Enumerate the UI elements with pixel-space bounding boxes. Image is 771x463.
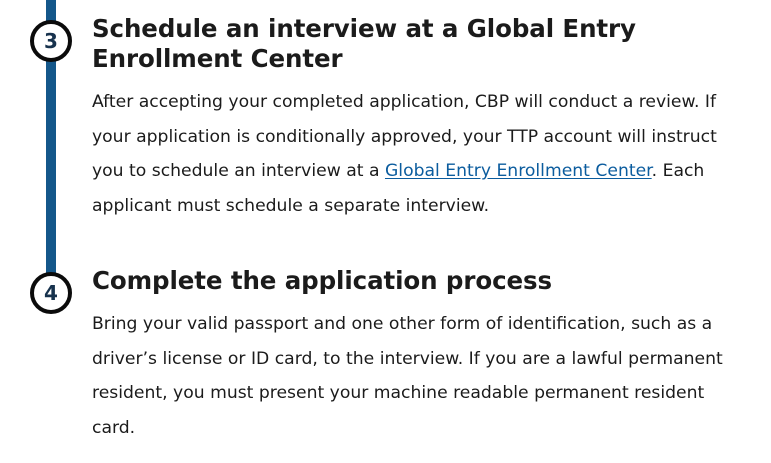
step-content-3: Schedule an interview at a Global Entry … bbox=[92, 14, 740, 223]
application-steps-page: 3 Schedule an interview at a Global Entr… bbox=[0, 0, 771, 463]
step-title-3: Schedule an interview at a Global Entry … bbox=[92, 14, 740, 74]
step-number-3: 3 bbox=[34, 24, 68, 58]
step-marker-3: 3 bbox=[30, 20, 72, 62]
global-entry-enrollment-center-link[interactable]: Global Entry Enrollment Center bbox=[385, 161, 652, 181]
step-text-before-link-4: Bring your valid passport and one other … bbox=[92, 314, 723, 438]
step-content-4: Complete the application process Bring y… bbox=[92, 266, 740, 445]
step-number-4: 4 bbox=[34, 276, 68, 310]
step-title-4: Complete the application process bbox=[92, 266, 740, 296]
step-description-3: After accepting your completed applicati… bbox=[92, 85, 740, 223]
step-marker-4: 4 bbox=[30, 272, 72, 314]
step-description-4: Bring your valid passport and one other … bbox=[92, 307, 740, 445]
